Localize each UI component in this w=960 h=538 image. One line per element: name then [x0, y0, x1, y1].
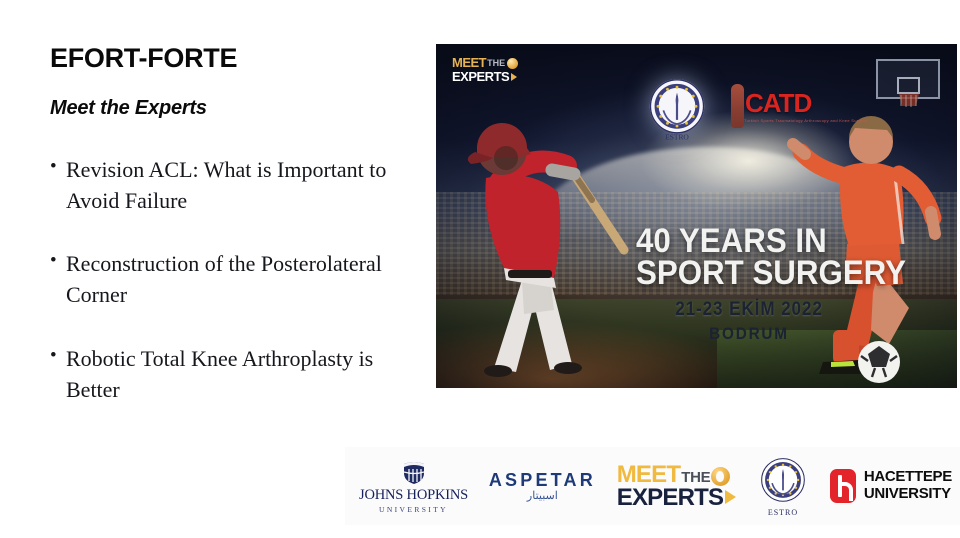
list-item-label: Reconstruction of the Posterolateral Cor… — [66, 248, 420, 310]
bullet-marker-icon: • — [50, 154, 66, 181]
poster-dates: 21-23 EKİM 2022 — [664, 299, 835, 321]
hacettepe-line-1: HACETTEPE — [864, 469, 952, 486]
poster-estro-logo-icon: ESTRO — [643, 75, 711, 143]
bullet-marker-icon: • — [50, 343, 66, 370]
johns-hopkins-name: JOHNS HOPKINS — [359, 488, 468, 503]
list-item: • Reconstruction of the Posterolateral C… — [50, 248, 420, 310]
list-item-label: Revision ACL: What is Important to Avoid… — [66, 154, 420, 216]
list-item-label: Robotic Total Knee Arthroplasty is Bette… — [66, 343, 420, 405]
aspetar-wordmark: ASPETAR — [489, 471, 596, 489]
sponsor-logo-meet-the-experts: MEET THE EXPERTS — [617, 464, 736, 508]
poster-estro-word: ESTRO — [665, 133, 689, 142]
event-poster-image: MEET THE EXPERTS ESTRO CATD Tur — [436, 44, 957, 388]
aspetar-arabic-wordmark: اسبيتار — [527, 491, 558, 502]
poster-headline-line-1: 40 YEARS IN — [636, 225, 906, 257]
mte-meet-word: MEET — [452, 56, 486, 69]
sponsor-logo-estro: ESTRO — [757, 455, 809, 517]
mte-experts-word: EXPERTS — [452, 70, 509, 83]
poster-headline: 40 YEARS IN SPORT SURGERY — [636, 225, 929, 290]
johns-hopkins-shield-icon — [401, 459, 427, 485]
poster-headline-line-2: SPORT SURGERY — [636, 257, 906, 289]
sponsor-logo-bar: JOHNS HOPKINS UNIVERSITY ASPETAR اسبيتار… — [345, 447, 960, 525]
mte-ball-icon — [507, 58, 518, 69]
poster-city: BODRUM — [664, 324, 835, 344]
poster-catd-logo: CATD Turkish Sports Traumatology Arthros… — [731, 84, 867, 128]
list-item: • Revision ACL: What is Important to Avo… — [50, 154, 420, 216]
sponsor-logo-hacettepe: HACETTEPE UNIVERSITY — [830, 469, 952, 503]
estro-wordmark: ESTRO — [768, 508, 798, 517]
catd-tagline: Turkish Sports Traumatology Arthroscopy … — [744, 118, 867, 123]
mte-play-arrow-icon — [725, 490, 736, 504]
catd-wordmark: CATD — [745, 90, 867, 116]
baseball-batter-figure — [442, 82, 632, 382]
poster-event-details: 21-23 EKİM 2022 BODRUM — [654, 299, 844, 344]
mte-experts-word: EXPERTS — [617, 487, 723, 509]
slide-text-column: EFORT-FORTE Meet the Experts • Revision … — [50, 44, 420, 405]
johns-hopkins-subtitle: UNIVERSITY — [379, 506, 448, 514]
list-item: • Robotic Total Knee Arthroplasty is Bet… — [50, 343, 420, 405]
mte-play-arrow-icon — [511, 73, 517, 81]
sponsor-logo-aspetar: ASPETAR اسبيتار — [489, 471, 596, 502]
mte-ball-icon — [711, 467, 730, 486]
mte-the-word: THE — [487, 59, 505, 68]
poster-meet-the-experts-logo: MEET THE EXPERTS — [452, 56, 518, 83]
hacettepe-wordmark: HACETTEPE UNIVERSITY — [864, 469, 952, 503]
bullet-marker-icon: • — [50, 248, 66, 275]
hacettepe-mark-icon — [830, 469, 856, 503]
hacettepe-line-2: UNIVERSITY — [864, 486, 952, 503]
estro-logo-icon — [757, 455, 809, 507]
mte-meet-word: MEET — [617, 464, 680, 486]
page-title: EFORT-FORTE — [50, 44, 420, 74]
sponsor-logo-johns-hopkins: JOHNS HOPKINS UNIVERSITY — [359, 459, 468, 513]
catd-anatomy-icon — [731, 84, 744, 128]
bullet-list: • Revision ACL: What is Important to Avo… — [50, 154, 420, 405]
slide-subtitle: Meet the Experts — [50, 97, 420, 120]
mte-the-word: THE — [681, 471, 710, 485]
